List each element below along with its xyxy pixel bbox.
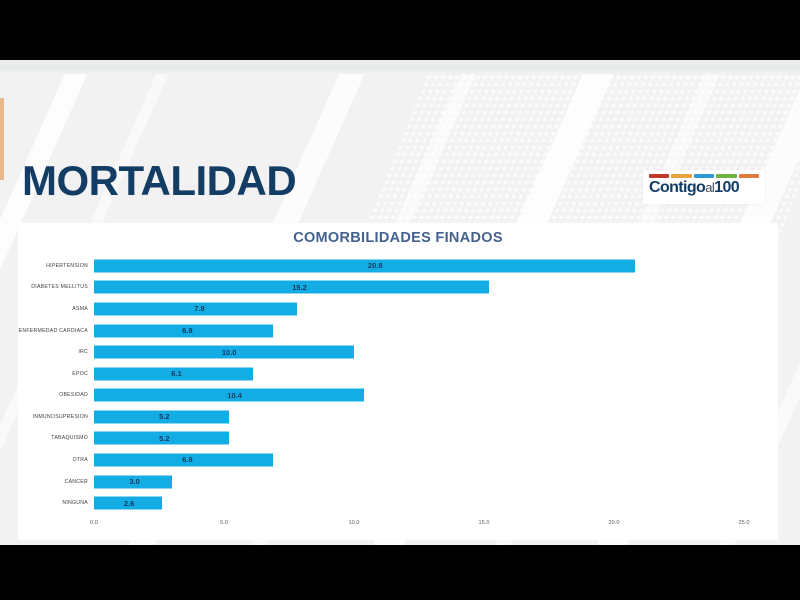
chart-bar-row: ENFERMEDAD CARDIACA6.9 (94, 320, 744, 342)
page-title: MORTALIDAD (22, 160, 296, 202)
chart-bar-row: ASMA7.8 (94, 298, 744, 320)
chart-bar-track: 10.0 (94, 346, 744, 359)
logo-text-contigo: Contigo (649, 179, 705, 196)
left-orange-accent (0, 98, 4, 180)
chart-bar-value-label: 5.2 (159, 434, 169, 443)
chart-x-tick-label: 5.0 (220, 520, 228, 526)
chart-title: COMORBILIDADES FINADOS (18, 230, 778, 246)
logo-text-100: 100 (714, 179, 739, 196)
chart-bar-track: 3.0 (94, 475, 744, 488)
chart-bar-track: 20.8 (94, 259, 744, 272)
chart-category-label: OBESIDAD (59, 392, 88, 398)
logo-bar-red (649, 174, 669, 178)
chart-bar-value-label: 6.9 (182, 326, 192, 335)
chart-bar (94, 259, 635, 272)
chart-bar-row: TABAQUISMO5.2 (94, 428, 744, 450)
chart-bar-track: 6.9 (94, 324, 744, 337)
background-top-band (0, 60, 800, 74)
chart-category-label: DIABETES MELLITUS (31, 284, 88, 290)
logo-wordmark: Contigoal100 (649, 180, 759, 196)
chart-bar-value-label: 20.8 (368, 261, 383, 270)
chart-bar-track: 6.1 (94, 367, 744, 380)
chart-category-label: CANCER (65, 479, 88, 485)
chart-category-label: EPOC (72, 371, 88, 377)
chart-category-label: ASMA (72, 306, 88, 312)
logo-color-bars (649, 174, 759, 178)
chart-category-label: ENFERMEDAD CARDIACA (19, 328, 88, 334)
logo-bar-green (716, 174, 736, 178)
chart-bar-row: DIABETES MELLITUS15.2 (94, 277, 744, 299)
chart-x-tick-label: 20.0 (609, 520, 620, 526)
chart-bar-row: OBESIDAD10.4 (94, 384, 744, 406)
chart-x-tick-label: 0.0 (90, 520, 98, 526)
logo-text-al: al (705, 180, 714, 195)
chart-bar-track: 7.8 (94, 302, 744, 315)
chart-category-label: HIPERTENSION (46, 263, 88, 269)
chart-category-label: INMUNOSUPRESION (33, 414, 88, 420)
chart-bar-row: OTRA6.9 (94, 449, 744, 471)
chart-bar-value-label: 7.8 (194, 304, 204, 313)
chart-bar-row: NINGUNA2.6 (94, 492, 744, 514)
chart-bar-row: EPOC6.1 (94, 363, 744, 385)
chart-bar-row: HIPERTENSION20.8 (94, 255, 744, 277)
chart-category-label: OTRA (73, 457, 88, 463)
chart-bar-value-label: 10.0 (222, 348, 237, 357)
chart-bar-track: 5.2 (94, 410, 744, 423)
logo-bar-yellow (671, 174, 691, 178)
chart-bar-rows: HIPERTENSION20.8DIABETES MELLITUS15.2ASM… (94, 255, 744, 514)
logo-bar-blue (694, 174, 714, 178)
chart-category-label: TABAQUISMO (51, 435, 88, 441)
chart-bar-row: INMUNOSUPRESION5.2 (94, 406, 744, 428)
chart-bar-row: CANCER3.0 (94, 471, 744, 493)
chart-x-tick-label: 15.0 (479, 520, 490, 526)
presentation-slide: MORTALIDAD Contigoal100 COMORBILIDADES F… (0, 60, 800, 545)
chart-bar-value-label: 5.2 (159, 412, 169, 421)
chart-bar-row: IRC10.0 (94, 341, 744, 363)
chart-category-label: NINGUNA (62, 500, 88, 506)
chart-x-tick-label: 25.0 (739, 520, 750, 526)
chart-bar-track: 15.2 (94, 281, 744, 294)
contigo-al-100-logo: Contigoal100 (643, 170, 765, 204)
chart-plot-area: HIPERTENSION20.8DIABETES MELLITUS15.2ASM… (94, 255, 744, 514)
chart-bar-value-label: 15.2 (292, 283, 307, 292)
chart-bar-track: 2.6 (94, 497, 744, 510)
chart-bar-value-label: 2.6 (124, 499, 134, 508)
chart-x-tick-label: 10.0 (349, 520, 360, 526)
chart-panel: COMORBILIDADES FINADOS HIPERTENSION20.8D… (18, 223, 778, 540)
chart-bar-track: 6.9 (94, 453, 744, 466)
chart-bar-value-label: 10.4 (227, 391, 242, 400)
chart-bar-value-label: 6.9 (182, 455, 192, 464)
chart-bar-value-label: 6.1 (171, 369, 181, 378)
screenshot-canvas: MORTALIDAD Contigoal100 COMORBILIDADES F… (0, 0, 800, 600)
chart-category-label: IRC (78, 349, 88, 355)
chart-bar-track: 5.2 (94, 432, 744, 445)
chart-bar-track: 10.4 (94, 389, 744, 402)
chart-bar-value-label: 3.0 (129, 477, 139, 486)
logo-bar-orange (739, 174, 759, 178)
chart-x-axis: 0.05.010.015.020.025.0 (94, 520, 744, 532)
